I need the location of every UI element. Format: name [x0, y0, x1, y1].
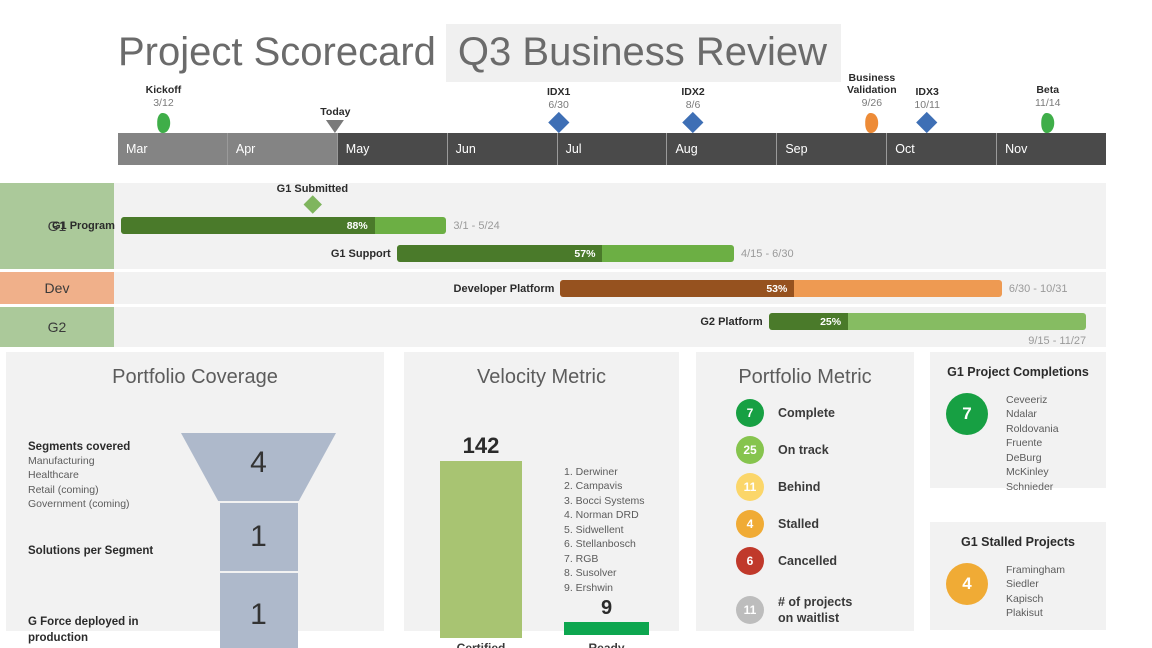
status-label: On track [778, 443, 829, 457]
gantt-chart: G1G1 SubmittedG1 Program88%3/1 - 5/24G1 … [0, 183, 1106, 350]
status-count-badge: 11 [736, 473, 764, 501]
timeline-month-aug: Aug [666, 133, 776, 165]
status-count-badge: 4 [736, 510, 764, 538]
segment-item: Government (coming) [28, 497, 178, 511]
gantt-bar-label: G1 Program [52, 220, 121, 232]
milestone-beta: Beta11/14 [1035, 84, 1061, 133]
gantt-row-g2: G2G2 Platform25%9/15 - 11/27 [0, 307, 1106, 347]
flag-marker-icon [1041, 113, 1054, 133]
project-name-item: Framingham [1006, 563, 1065, 577]
gantt-row-track: G1 SubmittedG1 Program88%3/1 - 5/24G1 Su… [114, 183, 1106, 269]
milestone-label: IDX1 [547, 86, 570, 98]
status-row-complete: 7Complete [736, 399, 914, 427]
funnel-value-middle: 1 [250, 520, 267, 554]
gantt-bar[interactable]: Developer Platform53%6/30 - 10/31 [560, 280, 1001, 297]
timeline-month-band: MarAprMayJunJulAugSepOctNov [118, 133, 1106, 165]
milestone-label: Kickoff [146, 84, 182, 96]
milestone-date: 10/11 [914, 99, 940, 113]
ready-project-item: 5. Sidwellent [564, 523, 645, 537]
milestone-kickoff: Kickoff3/12 [146, 84, 182, 133]
portfolio-metric-panel: Portfolio Metric 7Complete25On track11Be… [696, 352, 914, 631]
gantt-bar-percent: 57% [574, 248, 595, 260]
gantt-flag-diamond-icon [303, 195, 321, 213]
gantt-row-dev: DevDeveloper Platform53%6/30 - 10/31 [0, 272, 1106, 304]
gantt-flag-label: G1 Submitted [277, 183, 349, 195]
segment-item: Manufacturing [28, 454, 178, 468]
gantt-bar-dates: 4/15 - 6/30 [734, 248, 794, 260]
stalled-title: G1 Stalled Projects [930, 522, 1106, 549]
milestone-idx3: IDX310/11 [914, 86, 940, 133]
completions-body: 7 CeveerizNdalarRoldovaniaFruenteDeBurgM… [930, 379, 1106, 494]
status-row-waitlist: 11# of projectson waitlist [736, 594, 914, 627]
gantt-row-g1: G1G1 SubmittedG1 Program88%3/1 - 5/24G1 … [0, 183, 1106, 269]
waitlist-count-badge: 11 [736, 596, 764, 624]
gantt-bar-dates: 6/30 - 10/31 [1002, 283, 1068, 295]
timeline-month-apr: Apr [227, 133, 337, 165]
milestone-label: Today [320, 106, 350, 118]
milestone-label: IDX3 [914, 86, 940, 98]
ready-project-item: 6. Stellanbosch [564, 537, 645, 551]
today-marker-icon [326, 120, 344, 133]
diamond-marker-icon [917, 112, 938, 133]
g1-stalled-projects-card: G1 Stalled Projects 4 FraminghamSiedlerK… [930, 522, 1106, 630]
project-name-item: Ceveeriz [1006, 393, 1059, 407]
project-name-item: Roldovania [1006, 422, 1059, 436]
flag-marker-icon [865, 113, 878, 133]
ready-value: 9 [564, 597, 649, 620]
gantt-bar-progress: 25% [769, 313, 848, 330]
segments-list: ManufacturingHealthcareRetail (coming)Go… [28, 454, 178, 512]
status-row-stalled: 4Stalled [736, 510, 914, 538]
milestone-date: 11/14 [1035, 97, 1061, 111]
gantt-bar-progress: 88% [121, 217, 375, 234]
status-count-badge: 6 [736, 547, 764, 575]
gantt-bar-percent: 25% [820, 316, 841, 328]
status-label: Stalled [778, 517, 819, 531]
milestone-label: Beta [1035, 84, 1061, 96]
project-name-item: Kapisch [1006, 592, 1065, 606]
diamond-marker-icon [682, 112, 703, 133]
ready-project-item: 9. Ershwin [564, 581, 645, 595]
milestone-date: 3/12 [146, 97, 182, 111]
completions-names-list: CeveerizNdalarRoldovaniaFruenteDeBurgMcK… [1006, 393, 1059, 494]
gantt-bar-track: 53% [560, 280, 1001, 297]
completions-title: G1 Project Completions [930, 352, 1106, 379]
funnel-value-bottom: 1 [250, 598, 267, 632]
portfolio-metric-title: Portfolio Metric [696, 352, 914, 389]
metric-panels: Portfolio Coverage Segments covered Manu… [0, 352, 1152, 637]
ready-project-item: 4. Norman DRD [564, 508, 645, 522]
velocity-body: 142 Certified 1. Derwiner2. Campavis3. B… [404, 389, 679, 624]
milestone-label: IDX2 [681, 86, 704, 98]
funnel-value-top: 4 [250, 446, 267, 480]
timeline-month-oct: Oct [886, 133, 996, 165]
waitlist-label: # of projectson waitlist [778, 594, 852, 627]
scorecard-page: Project Scorecard Q3 Business Review Mar… [0, 0, 1152, 648]
certified-caption: Certified [430, 641, 532, 648]
stalled-count-badge: 4 [946, 563, 988, 605]
project-name-item: Siedler [1006, 577, 1065, 591]
g1-project-completions-card: G1 Project Completions 7 CeveerizNdalarR… [930, 352, 1106, 488]
gantt-row-track: G2 Platform25%9/15 - 11/27 [114, 307, 1106, 347]
segment-item: Retail (coming) [28, 483, 178, 497]
ready-project-item: 8. Susolver [564, 566, 645, 580]
velocity-metric-title: Velocity Metric [404, 352, 679, 389]
project-name-item: DeBurg [1006, 451, 1059, 465]
status-row-behind: 11Behind [736, 473, 914, 501]
gantt-row-label: G2 [0, 307, 114, 347]
status-label: Complete [778, 406, 835, 420]
gantt-bar-percent: 53% [766, 283, 787, 295]
coverage-funnel: 4 1 1 [181, 433, 336, 648]
gforce-deployed-label: G Force deployed in production [28, 615, 168, 646]
ready-caption: Ready [554, 641, 659, 648]
milestone-idx1: IDX16/30 [547, 86, 570, 133]
milestone-date: 8/6 [681, 99, 704, 113]
gantt-bar[interactable]: G2 Platform25%9/15 - 11/27 [769, 313, 1086, 330]
velocity-metric-panel: Velocity Metric 142 Certified 1. Derwine… [404, 352, 679, 631]
ready-projects-list: 1. Derwiner2. Campavis3. Bocci Systems4.… [564, 465, 645, 595]
ready-project-item: 3. Bocci Systems [564, 494, 645, 508]
certified-bar [440, 461, 522, 638]
solutions-per-segment-label: Solutions per Segment [28, 545, 153, 557]
gantt-flag: G1 Submitted [277, 183, 349, 211]
gantt-bar-percent: 88% [347, 220, 368, 232]
gantt-bar-label: G2 Platform [700, 316, 768, 328]
milestone-today: Today [320, 106, 350, 133]
ready-project-item: 7. RGB [564, 552, 645, 566]
gantt-bar-track: 57% [397, 245, 734, 262]
ready-bar [564, 622, 649, 635]
segment-item: Healthcare [28, 468, 178, 482]
timeline-month-nov: Nov [996, 133, 1106, 165]
milestone-idx2: IDX28/6 [681, 86, 704, 133]
timeline-month-jun: Jun [447, 133, 557, 165]
timeline-month-sep: Sep [776, 133, 886, 165]
gantt-bar-progress: 57% [397, 245, 603, 262]
status-label: Cancelled [778, 554, 837, 568]
project-name-item: Ndalar [1006, 407, 1059, 421]
status-label: Behind [778, 480, 820, 494]
timeline-month-mar: Mar [118, 133, 227, 165]
gantt-bar-dates: 9/15 - 11/27 [1028, 335, 1086, 347]
portfolio-status-list: 7Complete25On track11Behind4Stalled6Canc… [696, 389, 914, 627]
gantt-bar-track: 25% [769, 313, 1086, 330]
segments-heading: Segments covered [28, 441, 178, 453]
certified-value: 142 [440, 433, 522, 459]
gantt-bar-label: Developer Platform [454, 283, 561, 295]
ready-project-item: 2. Campavis [564, 479, 645, 493]
portfolio-coverage-title: Portfolio Coverage [6, 352, 384, 389]
funnel-segment-bottom: 1 [220, 573, 298, 648]
ready-project-item: 1. Derwiner [564, 465, 645, 479]
gantt-bar-dates: 3/1 - 5/24 [446, 220, 499, 232]
flag-marker-icon [157, 113, 170, 133]
milestone-business-validation: BusinessValidation9/26 [847, 72, 897, 133]
project-name-item: McKinley [1006, 465, 1059, 479]
gantt-bar[interactable]: G1 Support57%4/15 - 6/30 [397, 245, 734, 262]
status-count-badge: 25 [736, 436, 764, 464]
gantt-row-track: Developer Platform53%6/30 - 10/31 [114, 272, 1106, 304]
project-name-item: Fruente [1006, 436, 1059, 450]
milestone-date: 9/26 [847, 97, 897, 111]
portfolio-coverage-panel: Portfolio Coverage Segments covered Manu… [6, 352, 384, 631]
stalled-body: 4 FraminghamSiedlerKapischPlakisut [930, 549, 1106, 621]
coverage-body: Segments covered ManufacturingHealthcare… [6, 389, 384, 624]
gantt-bar-progress: 53% [560, 280, 794, 297]
gantt-row-label: Dev [0, 272, 114, 304]
stalled-names-list: FraminghamSiedlerKapischPlakisut [1006, 563, 1065, 621]
coverage-segment-labels: Segments covered ManufacturingHealthcare… [28, 441, 178, 512]
project-name-item: Schnieder [1006, 480, 1059, 494]
funnel-segment-middle: 1 [220, 503, 298, 571]
project-timeline: MarAprMayJunJulAugSepOctNov Kickoff3/12T… [118, 70, 1106, 165]
project-name-item: Plakisut [1006, 606, 1065, 620]
status-row-on-track: 25On track [736, 436, 914, 464]
gantt-bar[interactable]: G1 Program88%3/1 - 5/24 [121, 217, 446, 234]
completions-count-badge: 7 [946, 393, 988, 435]
timeline-month-jul: Jul [557, 133, 667, 165]
status-row-cancelled: 6Cancelled [736, 547, 914, 575]
gantt-bar-track: 88% [121, 217, 446, 234]
gantt-bar-label: G1 Support [331, 248, 397, 260]
timeline-month-may: May [337, 133, 447, 165]
funnel-segment-top: 4 [181, 433, 336, 501]
status-count-badge: 7 [736, 399, 764, 427]
milestone-label: BusinessValidation [847, 72, 897, 96]
diamond-marker-icon [548, 112, 569, 133]
